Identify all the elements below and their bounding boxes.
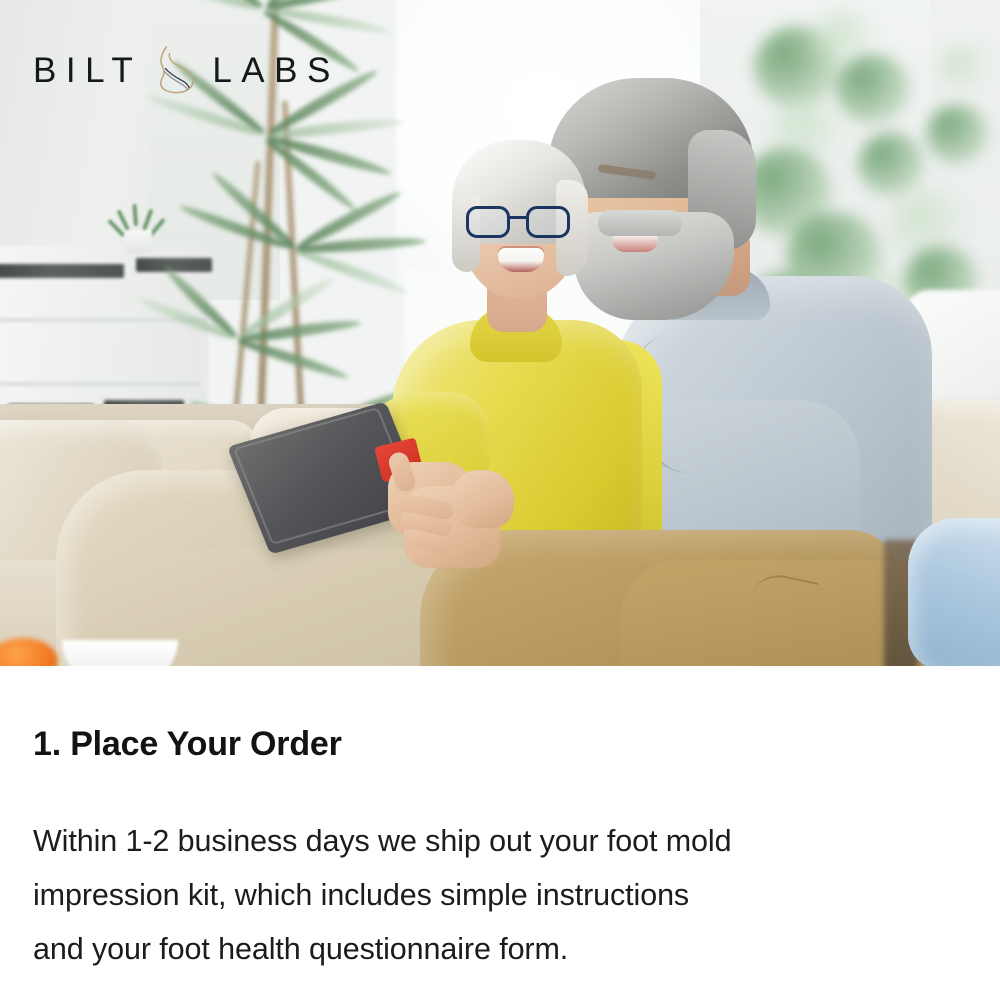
man-mustache [598, 210, 682, 236]
man-thumb-pad [452, 470, 514, 528]
white-bowl [62, 640, 178, 666]
step-body-line-1: Within 1-2 business days we ship out you… [33, 814, 983, 868]
cabinet-seam [0, 382, 200, 386]
step-heading: 1. Place Your Order [33, 727, 342, 761]
step-body-line-3: and your foot health questionnaire form. [33, 922, 983, 976]
cabinet-slot [0, 264, 124, 278]
brand-word-labs: LABS [212, 53, 340, 88]
eyeglasses-icon [466, 206, 574, 242]
woman-smile [498, 248, 544, 272]
blue-cushion [908, 518, 1000, 666]
step-content: 1. Place Your Order Within 1-2 business … [0, 666, 1000, 1000]
step-body-line-2: impression kit, which includes simple in… [33, 868, 983, 922]
hero-photo: BILT LABS [0, 0, 1000, 666]
foot-arch-icon [150, 44, 206, 96]
small-potted-plant [112, 196, 164, 254]
step-body: Within 1-2 business days we ship out you… [33, 814, 983, 976]
brand-logo[interactable]: BILT LABS [33, 44, 340, 96]
man-smile [612, 234, 658, 252]
page-root: BILT LABS 1. Place Your Order Within 1-2… [0, 0, 1000, 1000]
brand-word-bilt: BILT [33, 53, 142, 88]
